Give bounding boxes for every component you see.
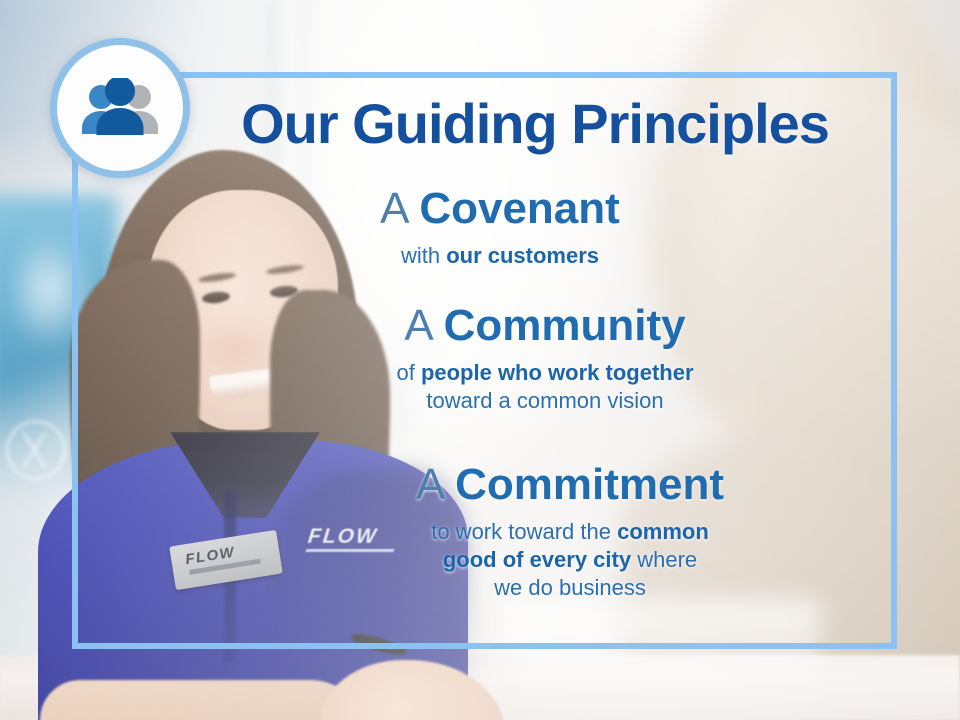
desk-highlight <box>500 600 820 720</box>
subtext-run: where <box>631 547 697 572</box>
subtext-run: to work toward the <box>431 519 617 544</box>
principle-article: A <box>416 460 443 509</box>
subtext-run: toward a common vision <box>426 388 663 413</box>
principle-block-community: A Community of people who work togethert… <box>0 303 960 415</box>
subtext-emphasis: people who work together <box>421 360 694 385</box>
principle-keyword: Covenant <box>419 184 619 233</box>
subtext-run: of <box>396 360 420 385</box>
principle-article: A <box>404 301 431 350</box>
principle-article: A <box>380 184 407 233</box>
principle-keyword: Commitment <box>455 460 724 509</box>
subtext-run: with <box>401 243 446 268</box>
principle-subtext: with our customers <box>40 242 960 270</box>
principle-subtext: of people who work togethertoward a comm… <box>130 359 960 415</box>
principle-heading: A Covenant <box>40 186 960 232</box>
subtext-emphasis: our customers <box>446 243 599 268</box>
subtext-emphasis: common <box>617 519 709 544</box>
principle-block-commitment: A Commitment to work toward the commongo… <box>0 462 960 602</box>
subtext-emphasis: good of every city <box>443 547 631 572</box>
page-title: Our Guiding Principles <box>0 96 960 152</box>
principle-subtext: to work toward the commongood of every c… <box>180 518 960 602</box>
principle-keyword: Community <box>444 301 686 350</box>
subtext-run: we do business <box>494 575 646 600</box>
principle-heading: A Community <box>130 303 960 349</box>
principle-heading: A Commitment <box>180 462 960 508</box>
principle-block-covenant: A Covenant with our customers <box>0 186 960 270</box>
promotional-graphic: FLOW FLOW Our Guiding Principle <box>0 0 960 720</box>
